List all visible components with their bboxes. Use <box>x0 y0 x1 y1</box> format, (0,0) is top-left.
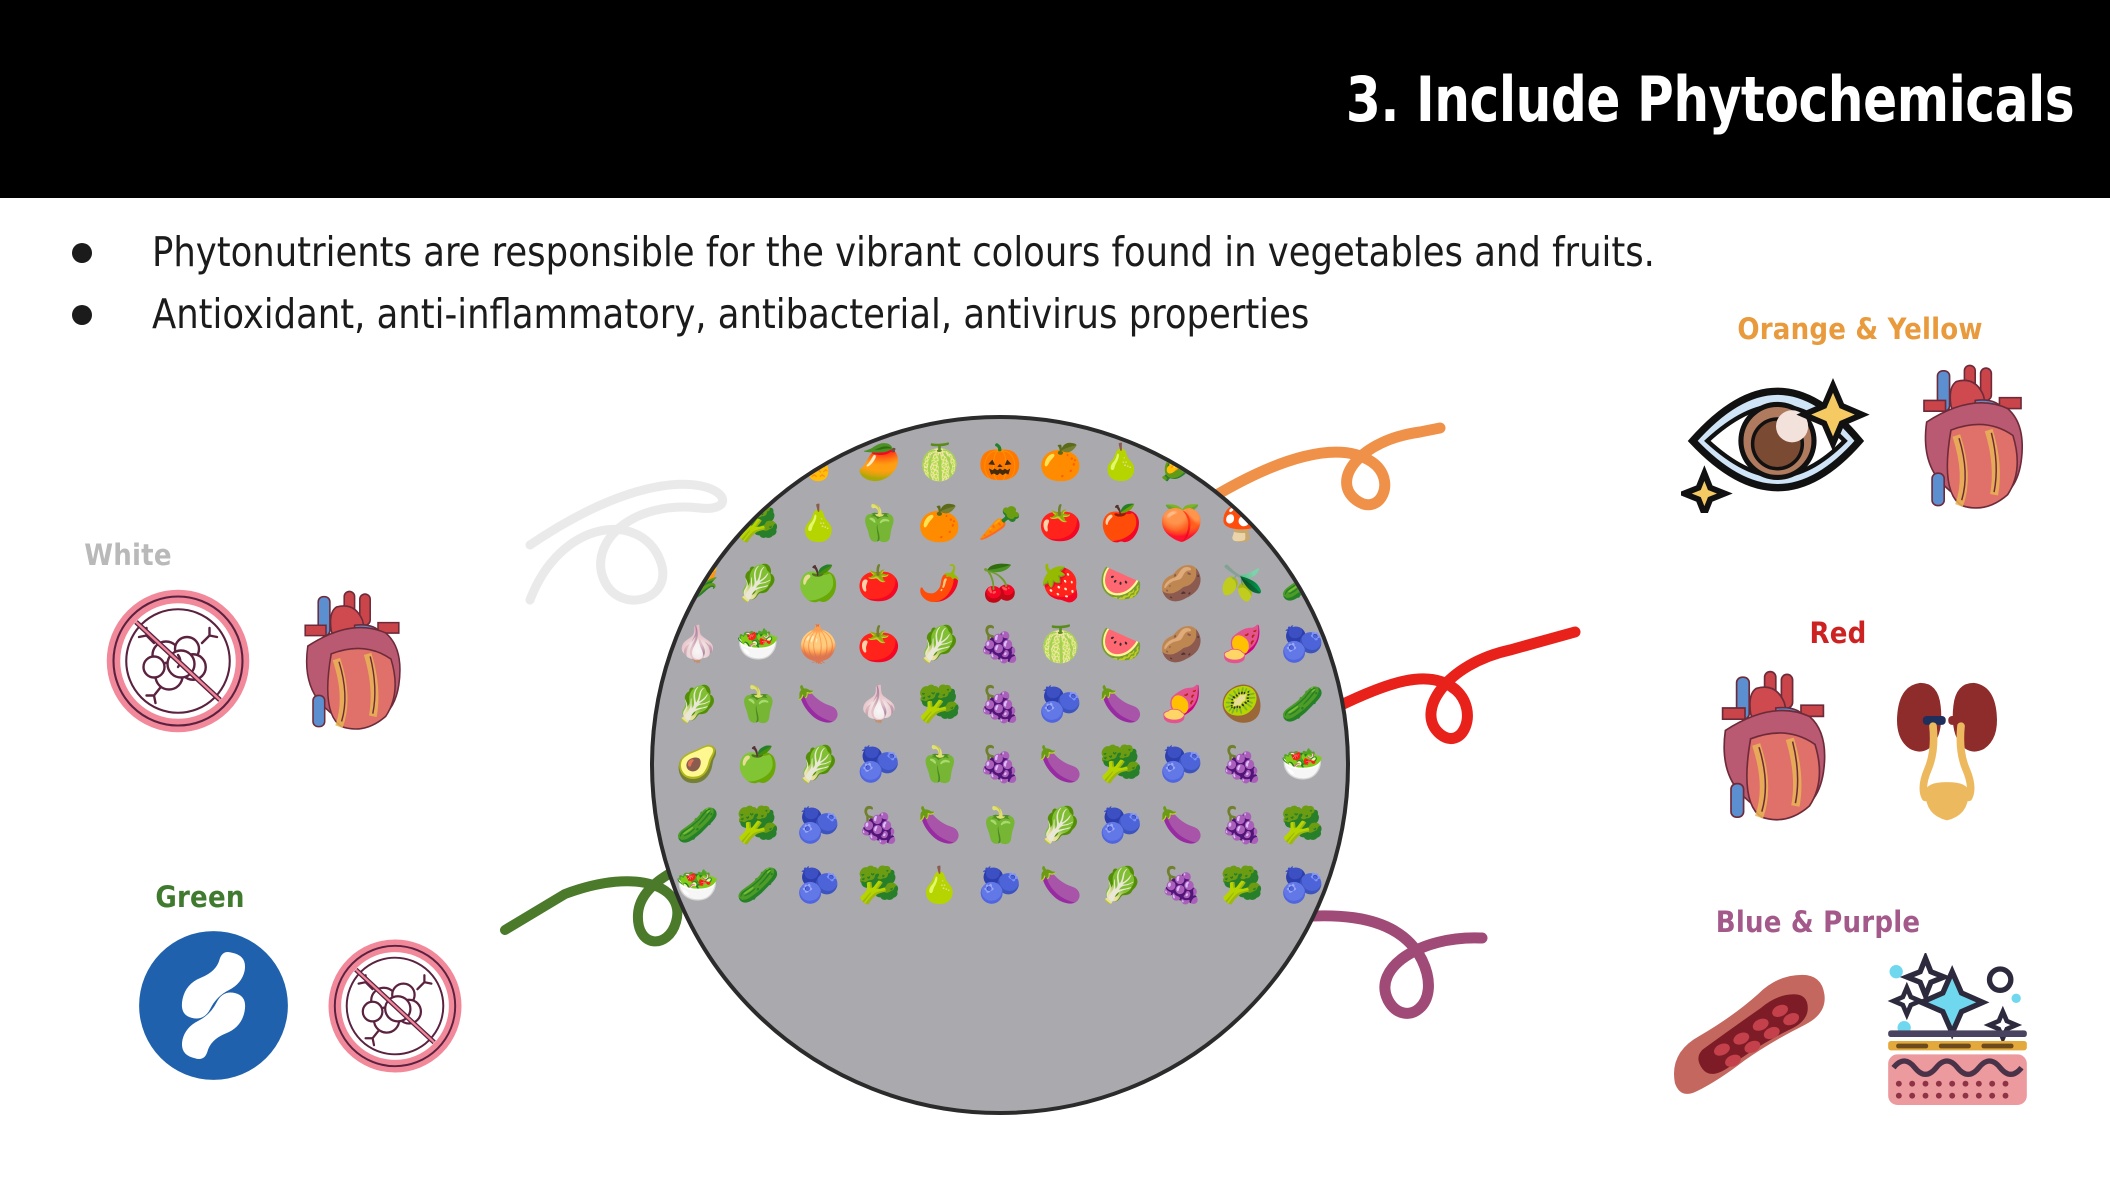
produce-item: 🧄 <box>1280 506 1324 541</box>
heart-anatomy-icon <box>1703 664 1843 834</box>
produce-item: 🫑 <box>918 747 962 782</box>
connector-red <box>1325 632 1575 739</box>
produce-item: 🥦 <box>1220 868 1264 903</box>
produce-item: 🍉 <box>1099 627 1143 662</box>
produce-item: 🥦 <box>1099 747 1143 782</box>
produce-item: 🫐 <box>1039 687 1083 722</box>
produce-item: 🍏 <box>797 566 841 601</box>
produce-item: 🍊 <box>1039 445 1083 480</box>
group-white: White <box>60 538 460 741</box>
produce-item: 🥗 <box>676 868 720 903</box>
produce-item: 🍅 <box>857 566 901 601</box>
produce-item: 🍇 <box>857 808 901 843</box>
produce-item: 🍇 <box>1160 868 1204 903</box>
heart-anatomy-icon <box>1905 360 2040 520</box>
group-icons-green <box>100 928 500 1088</box>
skin-layers-icon <box>1875 953 2040 1118</box>
produce-item: 🫐 <box>857 747 901 782</box>
produce-item: 🍋 <box>736 445 780 480</box>
bone-joint-icon <box>136 928 291 1088</box>
produce-item: 🫑 <box>736 687 780 722</box>
produce-item: 🫐 <box>978 868 1022 903</box>
produce-item: 🎃 <box>978 445 1022 480</box>
produce-item: 🥦 <box>857 868 901 903</box>
produce-item: 🥕 <box>978 506 1022 541</box>
group-label-white: White <box>0 538 328 572</box>
heart-anatomy-icon <box>287 586 417 741</box>
produce-item: 🥬 <box>676 687 720 722</box>
group-label-red: Red <box>1638 616 2038 650</box>
produce-item: 🌽 <box>1160 445 1204 480</box>
group-label-blue-purple: Blue & Purple <box>1608 905 2028 939</box>
produce-item: 🥔 <box>1160 627 1204 662</box>
produce-illustrations: 🫚 🍋 🍍 🥭 🍈 🎃 🍊 🍐 🌽 🧅 🍌 🥔 🥦 🍐 🫑 🍊 🥕 🍅 � <box>654 419 1346 1111</box>
produce-item: 🍆 <box>918 808 962 843</box>
produce-item: 🫐 <box>797 868 841 903</box>
page-title: 3. Include Phytochemicals <box>1346 63 2110 136</box>
slide-canvas: 3. Include Phytochemicals Phytonutrients… <box>0 0 2110 1192</box>
produce-item: 🧅 <box>1220 445 1264 480</box>
group-label-green: Green <box>0 880 400 914</box>
produce-item: 🥬 <box>797 747 841 782</box>
produce-item: 🌶️ <box>918 566 962 601</box>
produce-item: 🧄 <box>857 687 901 722</box>
list-item: Phytonutrients are responsible for the v… <box>62 228 1962 276</box>
produce-item: 🍇 <box>1220 747 1264 782</box>
bullet-text: Phytonutrients are responsible for the v… <box>152 228 1655 276</box>
produce-item: 🥗 <box>736 627 780 662</box>
bullet-dot-icon <box>72 243 92 263</box>
eye-vision-icon <box>1681 363 1871 518</box>
produce-item: 🍒 <box>978 566 1022 601</box>
produce-item: 🥬 <box>918 627 962 662</box>
group-orange-yellow: Orange & Yellow <box>1660 312 2060 520</box>
group-blue-purple: Blue & Purple <box>1640 905 2060 1118</box>
produce-item: 🥦 <box>736 808 780 843</box>
produce-item: 🍆 <box>797 687 841 722</box>
group-icons-orange-yellow <box>1660 360 2060 520</box>
group-icons-red <box>1660 664 2060 834</box>
produce-item: 🥒 <box>676 808 720 843</box>
produce-item: 🥔 <box>676 506 720 541</box>
no-cancer-icon <box>103 586 253 741</box>
produce-item: 🍑 <box>1160 506 1204 541</box>
slide-header: 3. Include Phytochemicals <box>0 0 2110 198</box>
produce-item: 🥦 <box>1280 808 1324 843</box>
produce-item: 🍐 <box>797 506 841 541</box>
group-red: Red <box>1660 616 2060 834</box>
produce-item: 🍇 <box>978 627 1022 662</box>
produce-item: 🥦 <box>736 506 780 541</box>
produce-item: 🍈 <box>918 445 962 480</box>
produce-item: 🥬 <box>1039 808 1083 843</box>
produce-item: 🫚 <box>676 445 720 480</box>
produce-item: 🫐 <box>1280 627 1324 662</box>
produce-item: 🍌 <box>1280 445 1324 480</box>
produce-item: 🫐 <box>1099 808 1143 843</box>
produce-item: 🧄 <box>676 627 720 662</box>
produce-item: 🧅 <box>797 627 841 662</box>
produce-item: 🍠 <box>1160 687 1204 722</box>
produce-item: 🥦 <box>918 687 962 722</box>
produce-item: 🍐 <box>918 868 962 903</box>
colour-wheel-disc: 🫚 🍋 🍍 🥭 🍈 🎃 🍊 🍐 🌽 🧅 🍌 🥔 🥦 🍐 🫑 🍊 🥕 🍅 � <box>650 415 1350 1115</box>
produce-item: 🫑 <box>978 808 1022 843</box>
colour-wheel: 🫚 🍋 🍍 🥭 🍈 🎃 🍊 🍐 🌽 🧅 🍌 🥔 🥦 🍐 🫑 🍊 🥕 🍅 � <box>650 415 1350 1115</box>
group-icons-blue-purple <box>1640 953 2060 1118</box>
produce-item: 🫒 <box>1220 566 1264 601</box>
produce-item: 🍐 <box>1099 445 1143 480</box>
produce-item: 🍓 <box>1039 566 1083 601</box>
produce-item: 🍇 <box>1220 808 1264 843</box>
produce-item: 🥭 <box>857 445 901 480</box>
produce-item: 🫐 <box>797 808 841 843</box>
no-cancer-icon <box>325 936 465 1081</box>
produce-item: 🫐 <box>1160 747 1204 782</box>
bullet-text: Antioxidant, anti-inflammatory, antibact… <box>152 290 1309 338</box>
produce-item: 🥔 <box>1160 566 1204 601</box>
group-icons-white <box>60 586 460 741</box>
kidneys-icon <box>1877 664 2017 834</box>
produce-item: 🫑 <box>857 506 901 541</box>
produce-item: 🍈 <box>1039 627 1083 662</box>
produce-item: 🥬 <box>1099 868 1143 903</box>
produce-item: 🍅 <box>1039 506 1083 541</box>
produce-item: 🥗 <box>1280 747 1324 782</box>
produce-item: 🍉 <box>1099 566 1143 601</box>
blood-vessel-icon <box>1661 958 1841 1113</box>
produce-item: 🍎 <box>1099 506 1143 541</box>
produce-item: 🍆 <box>1039 747 1083 782</box>
group-label-orange-yellow: Orange & Yellow <box>1660 312 2060 346</box>
produce-item: 🍍 <box>797 445 841 480</box>
produce-item: 🌽 <box>676 566 720 601</box>
produce-item: 🫐 <box>1280 868 1324 903</box>
produce-item: 🍊 <box>918 506 962 541</box>
produce-item: 🍆 <box>1039 868 1083 903</box>
produce-item: 🍏 <box>736 747 780 782</box>
produce-item: 🥑 <box>676 747 720 782</box>
produce-item: 🍇 <box>978 687 1022 722</box>
produce-item: 🥒 <box>1280 566 1324 601</box>
produce-item: 🍠 <box>1220 627 1264 662</box>
produce-item: 🍅 <box>857 627 901 662</box>
group-green: Green <box>100 880 500 1088</box>
produce-item: 🥬 <box>736 566 780 601</box>
produce-item: 🥒 <box>1280 687 1324 722</box>
produce-item: 🍇 <box>978 747 1022 782</box>
produce-item: 🍆 <box>1099 687 1143 722</box>
produce-item: 🥝 <box>1220 687 1264 722</box>
produce-item: 🍄 <box>1220 506 1264 541</box>
produce-item: 🥒 <box>736 868 780 903</box>
produce-item: 🍆 <box>1160 808 1204 843</box>
bullet-dot-icon <box>72 305 92 325</box>
